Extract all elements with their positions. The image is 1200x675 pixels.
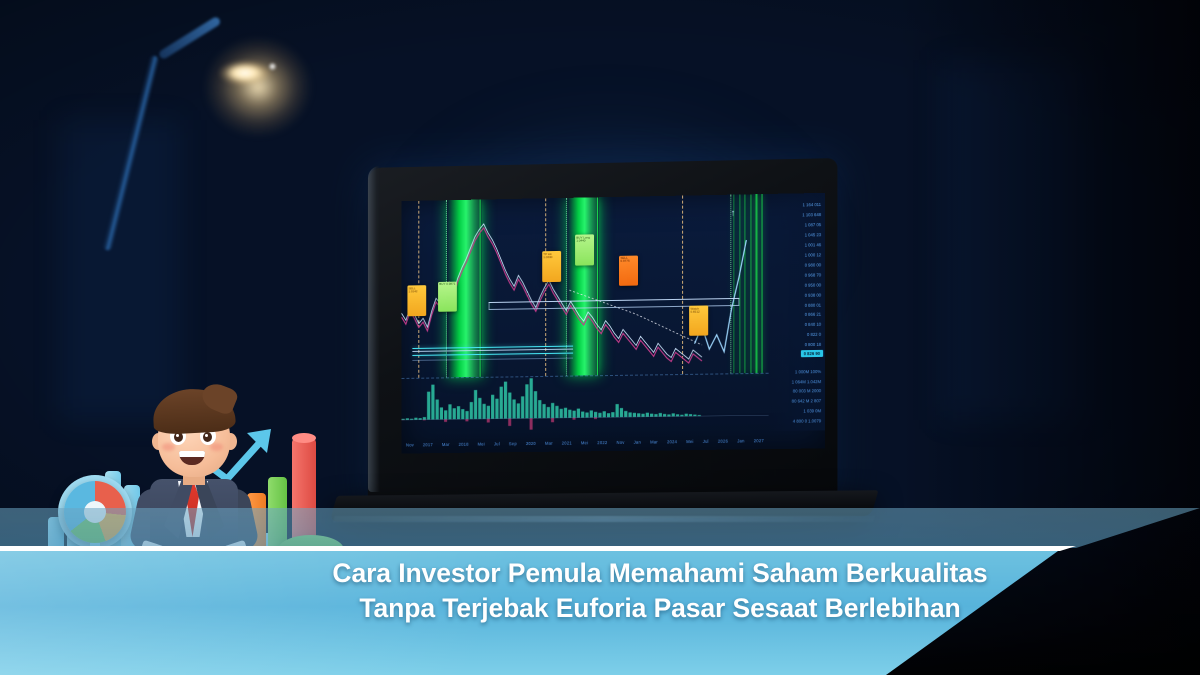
price-axis-label: 0 866 21 (805, 312, 821, 317)
time-axis-label: 2018 (459, 441, 469, 446)
time-axis-label: Mei (581, 440, 588, 445)
time-axis-label: Jan (634, 439, 641, 444)
price-axis: 1 164 0111 103 6481 087 051 045 231 001 … (769, 193, 826, 431)
price-axis-label: 1 045 23 (805, 232, 821, 237)
time-axis-label: 2021 (562, 440, 572, 445)
time-axis-label: Jul (703, 438, 709, 443)
title-line-2: Tanpa Terjebak Euforia Pasar Sesaat Berl… (330, 591, 990, 626)
cheek-right (210, 443, 223, 451)
price-axis-label: 1 103 648 (802, 212, 821, 217)
chart-annotation[interactable]: BUY Long 1.0440 (575, 235, 594, 266)
time-axis-label: Mei (686, 438, 693, 443)
time-axis-label: Sep (509, 441, 517, 446)
price-axis-label: 1 164 011 (803, 202, 822, 207)
price-axis-label: 0 938 00 (805, 292, 821, 297)
price-axis-label: 0 822 0 (807, 332, 821, 337)
lamp-glow (188, 22, 328, 152)
chart-annotation[interactable]: SELL 0.9775 (619, 255, 638, 286)
time-axis-label: Jul (494, 441, 500, 446)
price-axis-label: 1 087 05 (805, 222, 821, 227)
price-pane: ↑SELL 1.0142BUY 0.9871TP Hit 1.0630BUY L… (402, 194, 769, 378)
volume-axis-label: 80 003 M 2000 (793, 389, 821, 394)
laptop-bezel-edge (368, 166, 380, 492)
trading-chart: ↑SELL 1.0142BUY 0.9871TP Hit 1.0630BUY L… (402, 193, 826, 454)
time-axis-label: Mar (650, 439, 658, 444)
lamp-bulb-icon (218, 60, 272, 86)
time-axis-label: Jan (737, 438, 744, 443)
time-axis-label: Mar (442, 441, 450, 446)
chart-annotation[interactable]: BUY 0.9871 (438, 281, 457, 311)
chart-annotation[interactable]: Watch 0.8312 (689, 306, 708, 337)
time-axis-label: 2027 (754, 438, 764, 443)
laptop: ↑SELL 1.0142BUY 0.9871TP Hit 1.0630BUY L… (366, 163, 836, 503)
eye-glint-left (176, 434, 179, 437)
banner-upper-band (0, 508, 1200, 548)
page-title: Cara Investor Pemula Memahami Saham Berk… (330, 556, 990, 626)
eye-glint-right (205, 434, 208, 437)
laptop-screen: ↑SELL 1.0142BUY 0.9871TP Hit 1.0630BUY L… (402, 193, 826, 454)
time-axis-label: Mar (545, 440, 553, 445)
time-axis-label: 2022 (597, 440, 607, 445)
price-axis-label: 0 880 01 (805, 302, 821, 307)
chart-annotation[interactable]: SELL 1.0142 (407, 285, 426, 315)
time-axis-label: Nov (616, 439, 624, 444)
time-axis-label: 2024 (667, 439, 677, 444)
price-axis-label: 1 000 12 (805, 252, 821, 257)
price-axis-label: 1 001 46 (805, 242, 821, 247)
price-axis-label: 0 968 70 (805, 272, 821, 277)
time-axis-label: Mei (478, 441, 485, 446)
title-line-1: Cara Investor Pemula Memahami Saham Berk… (330, 556, 990, 591)
price-axis-label: 0 950 00 (805, 282, 821, 287)
volume-series (402, 374, 769, 436)
price-axis-label: 0 800 18 (805, 342, 821, 347)
teeth (179, 451, 205, 457)
banner-white-divider (0, 546, 1200, 551)
volume-axis-label: 80 642 M 2 807 (792, 399, 821, 404)
pupil-right (203, 432, 212, 442)
volume-axis-label: 1 039 0M (803, 409, 821, 414)
bar-red-cap (292, 433, 316, 443)
volume-pane (402, 373, 769, 436)
lamp-spark-icon (268, 62, 277, 71)
cheek-left (162, 443, 175, 451)
current-price-tag: 0 826 90 (801, 350, 824, 357)
volume-axis-label: 4 800 0 1.0079 (793, 419, 821, 424)
time-axis-label: 2020 (526, 440, 536, 445)
time-axis-label: 2026 (718, 438, 728, 443)
price-axis-label: 0 980 00 (805, 262, 821, 267)
projection-arrow-icon: ↑ (731, 209, 736, 218)
price-axis-label: 0 840 10 (805, 322, 821, 327)
chart-annotation[interactable]: TP Hit 1.0630 (542, 251, 561, 281)
volume-axis-label: 1 064M 1.042M (792, 379, 821, 384)
volume-axis-label: 1 000M 100% (795, 369, 821, 374)
time-axis-label: 2017 (423, 442, 433, 447)
time-axis-label: Nov (406, 442, 414, 447)
thumbnail-canvas: ↑SELL 1.0142BUY 0.9871TP Hit 1.0630BUY L… (0, 0, 1200, 675)
